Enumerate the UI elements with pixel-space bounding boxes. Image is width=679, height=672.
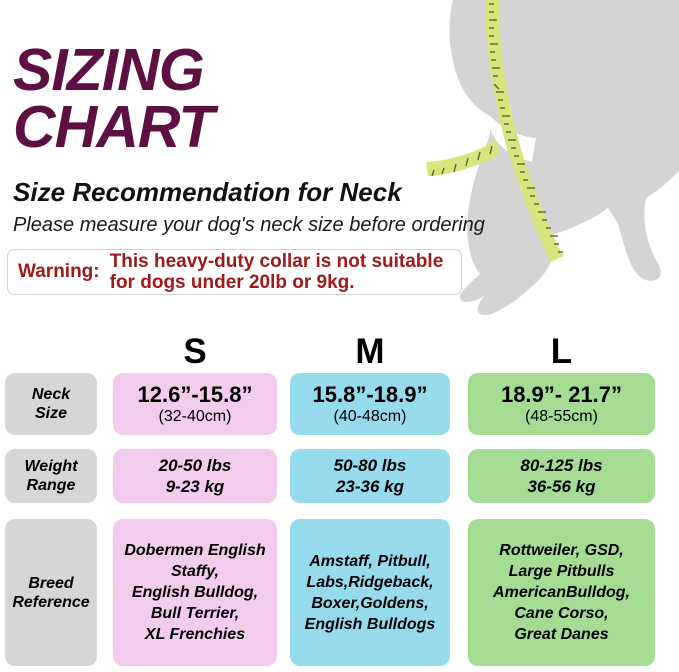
cell-weight-range-l: 80-125 lbs 36-56 kg — [468, 449, 655, 503]
warning-line-2: for dogs under 20lb or 9kg. — [110, 272, 444, 293]
row-label-line-1: Neck — [32, 385, 70, 404]
row-label-line-1: Weight — [24, 457, 77, 476]
dog-neck-notch — [490, 116, 536, 162]
sizing-chart-page: SIZING CHART Size Recommendation for Nec… — [0, 0, 679, 672]
instruction-text: Please measure your dog's neck size befo… — [13, 213, 485, 237]
breed-line: AmericanBulldog, — [493, 582, 630, 603]
row-label-neck-size: Neck Size — [5, 373, 97, 435]
warning-message: This heavy-duty collar is not suitable f… — [110, 251, 444, 293]
breed-line: Bull Terrier, — [151, 603, 239, 624]
row-label-breed-reference: Breed Reference — [5, 519, 97, 666]
breed-line: Labs,Ridgeback, — [306, 572, 433, 593]
breed-line: Rottweiler, GSD, — [499, 540, 623, 561]
weight-kg-s: 9-23 kg — [166, 476, 225, 497]
weight-lbs-s: 20-50 lbs — [159, 455, 232, 476]
row-label-line-2: Range — [27, 476, 76, 495]
cell-neck-size-s: 12.6”-15.8” (32-40cm) — [113, 373, 277, 435]
neck-size-metric-m: (40-48cm) — [334, 407, 407, 426]
cell-breed-reference-l: Rottweiler, GSD, Large Pitbulls American… — [468, 519, 655, 666]
cell-neck-size-m: 15.8”-18.9” (40-48cm) — [290, 373, 450, 435]
subtitle: Size Recommendation for Neck — [13, 178, 402, 206]
weight-kg-m: 23-36 kg — [336, 476, 404, 497]
breed-line: Staffy, — [171, 561, 219, 582]
neck-size-value-s: 12.6”-15.8” — [138, 382, 253, 407]
size-header-m: M — [290, 334, 450, 369]
dog-silhouette-shape — [449, 0, 679, 315]
title-line-1: SIZING — [13, 42, 483, 99]
cell-neck-size-l: 18.9”- 21.7” (48-55cm) — [468, 373, 655, 435]
title-line-2: CHART — [13, 99, 483, 156]
breed-line: Amstaff, Pitbull, — [309, 551, 431, 572]
row-label-line-1: Breed — [28, 574, 73, 593]
row-label-line-2: Size — [35, 404, 67, 423]
neck-size-value-l: 18.9”- 21.7” — [501, 382, 622, 407]
warning-box: Warning: This heavy-duty collar is not s… — [7, 249, 462, 295]
warning-label: Warning: — [18, 261, 110, 283]
neck-size-metric-l: (48-55cm) — [525, 407, 598, 426]
row-label-line-2: Reference — [12, 593, 89, 612]
neck-size-metric-s: (32-40cm) — [159, 407, 232, 426]
breed-line: Boxer,Goldens, — [311, 593, 428, 614]
row-label-weight-range: Weight Range — [5, 449, 97, 503]
measuring-tape-band — [485, 0, 564, 262]
size-header-s: S — [113, 334, 277, 369]
neck-size-value-m: 15.8”-18.9” — [313, 382, 428, 407]
weight-lbs-m: 50-80 lbs — [334, 455, 407, 476]
cell-breed-reference-s: Dobermen English Staffy, English Bulldog… — [113, 519, 277, 666]
size-header-l: L — [468, 334, 655, 369]
cell-weight-range-s: 20-50 lbs 9-23 kg — [113, 449, 277, 503]
breed-line: English Bulldogs — [305, 614, 436, 635]
breed-line: Large Pitbulls — [509, 561, 615, 582]
breed-line: English Bulldog, — [132, 582, 258, 603]
weight-kg-l: 36-56 kg — [527, 476, 595, 497]
weight-lbs-l: 80-125 lbs — [520, 455, 602, 476]
breed-line: Dobermen English — [124, 540, 265, 561]
breed-line: Great Danes — [514, 624, 608, 645]
cell-weight-range-m: 50-80 lbs 23-36 kg — [290, 449, 450, 503]
breed-line: Cane Corso, — [514, 603, 608, 624]
dog-silhouette-group — [449, 0, 679, 315]
page-title: SIZING CHART — [13, 42, 483, 156]
cell-breed-reference-m: Amstaff, Pitbull, Labs,Ridgeback, Boxer,… — [290, 519, 450, 666]
breed-line: XL Frenchies — [145, 624, 245, 645]
warning-line-1: This heavy-duty collar is not suitable — [110, 251, 444, 272]
